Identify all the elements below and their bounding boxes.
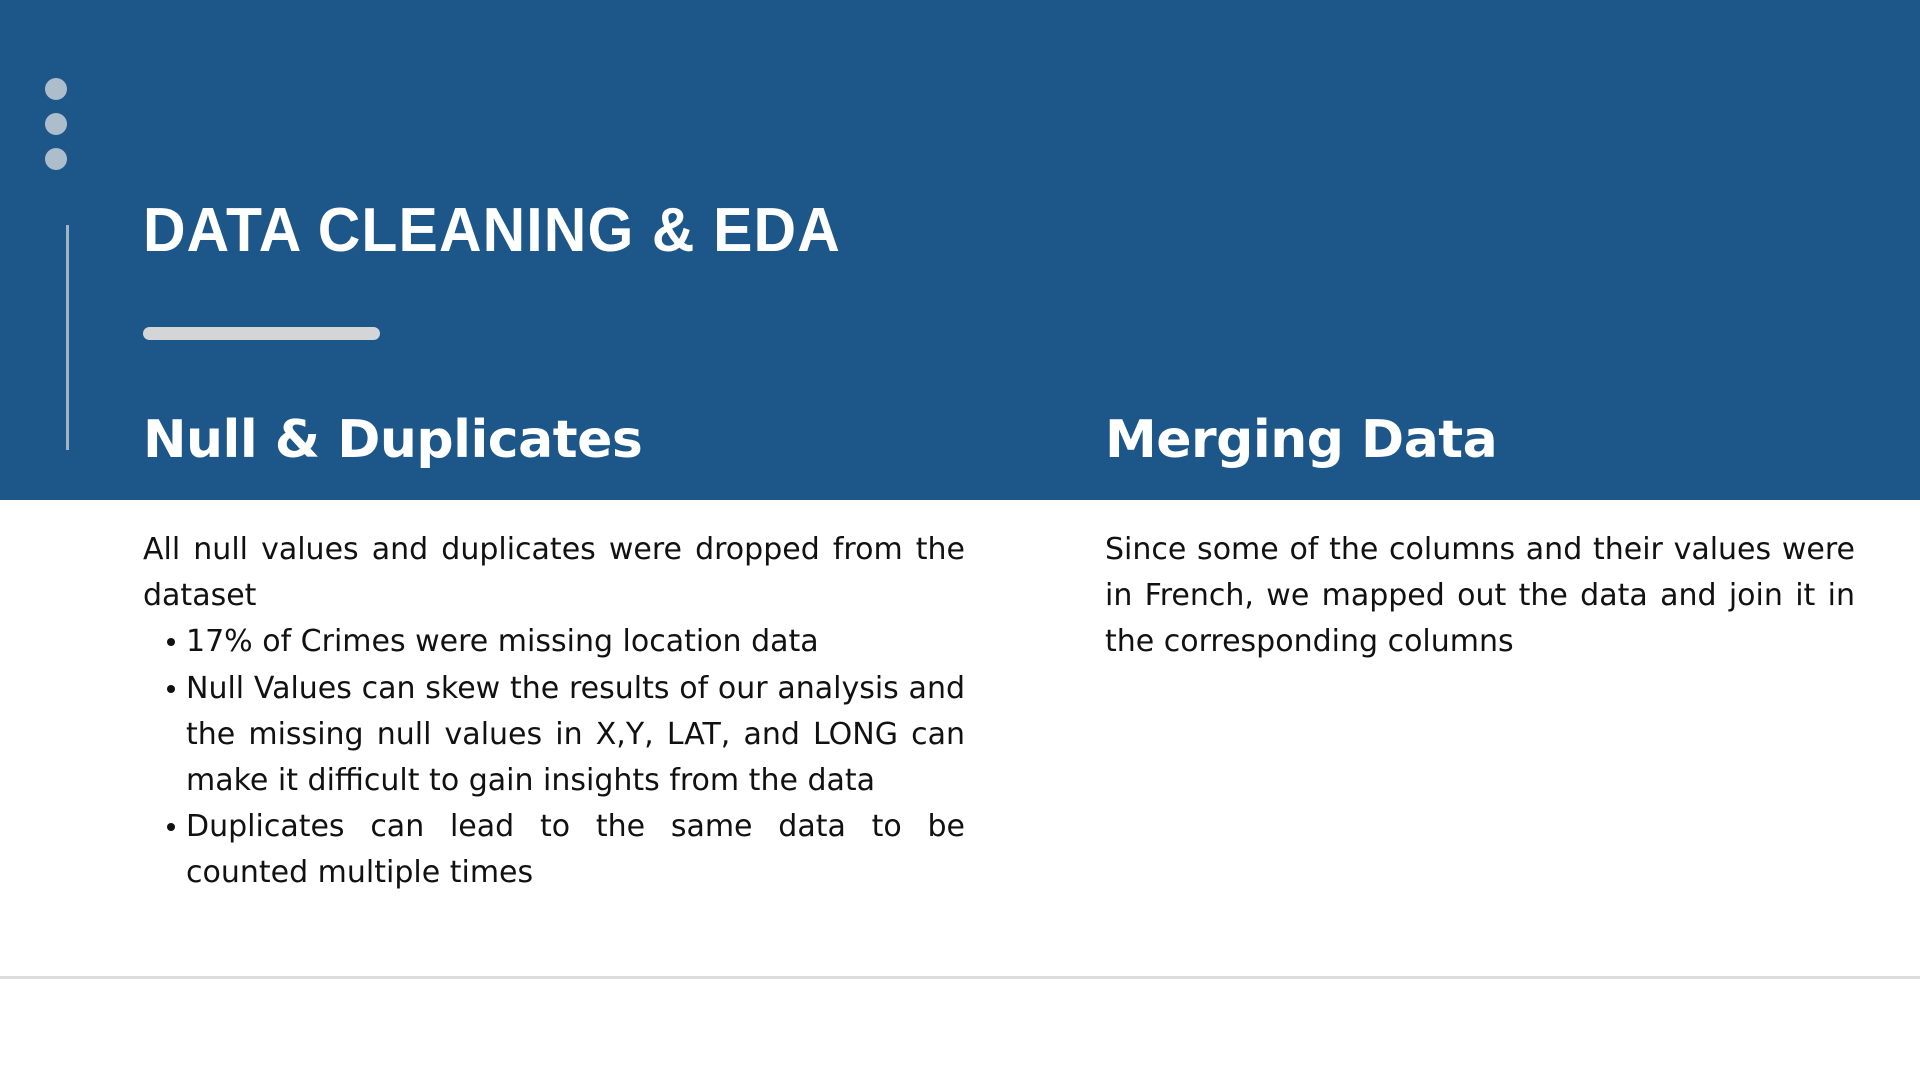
left-column-bullet-list: 17% of Crimes were missing location data…	[143, 619, 965, 896]
left-column-body: All null values and duplicates were drop…	[143, 527, 965, 897]
decorative-vertical-line	[66, 225, 69, 450]
list-item: Null Values can skew the results of our …	[143, 666, 965, 805]
right-column-lede: Since some of the columns and their valu…	[1105, 527, 1855, 666]
decorative-dot-icon	[45, 148, 67, 170]
right-column-heading: Merging Data	[1105, 412, 1497, 469]
right-column-body: Since some of the columns and their valu…	[1105, 527, 1855, 666]
decorative-dot-icon	[45, 113, 67, 135]
slide-canvas: DATA CLEANING & EDA Null & Duplicates Me…	[0, 0, 1920, 1080]
decorative-dots-group	[45, 78, 69, 183]
left-column-heading: Null & Duplicates	[143, 412, 642, 469]
slide-title: DATA CLEANING & EDA	[143, 200, 841, 262]
title-accent-bar	[143, 327, 380, 340]
list-item: 17% of Crimes were missing location data	[143, 619, 965, 665]
bottom-divider	[0, 976, 1920, 979]
list-item: Duplicates can lead to the same data to …	[143, 804, 965, 896]
left-column-lede: All null values and duplicates were drop…	[143, 527, 965, 619]
decorative-dot-icon	[45, 78, 67, 100]
